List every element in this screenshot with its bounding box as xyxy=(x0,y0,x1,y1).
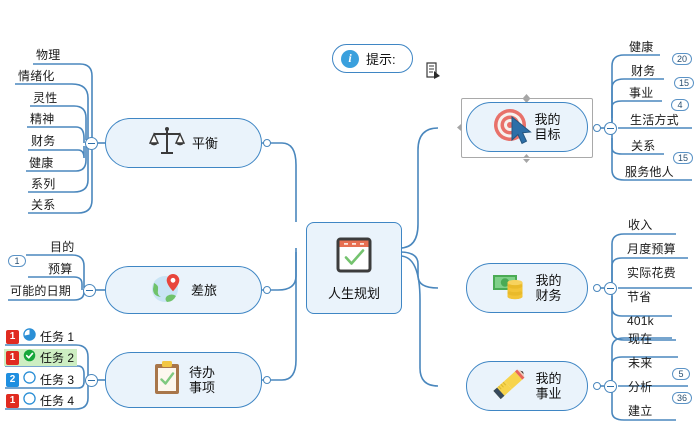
leaf-label-series[interactable]: 系列 xyxy=(31,177,55,191)
checklist-window-icon xyxy=(333,235,375,280)
hint-callout[interactable]: i 提示: xyxy=(332,44,413,73)
leaf-label-income[interactable]: 收入 xyxy=(628,218,652,232)
task-label: 任务 4 xyxy=(40,392,74,409)
info-icon: i xyxy=(341,50,359,68)
badge-goal-career: 4 xyxy=(671,99,689,111)
branch-dot-balance[interactable] xyxy=(263,139,271,147)
leaf-label-401k[interactable]: 401k xyxy=(627,314,654,328)
leaf-label-dates[interactable]: 可能的日期 xyxy=(10,284,71,298)
badge-goal-relations: 15 xyxy=(673,152,693,164)
branch-node-travel[interactable]: 差旅 xyxy=(105,266,262,314)
branch-dot-finance[interactable] xyxy=(593,284,601,292)
check-circle-icon[interactable] xyxy=(23,349,36,367)
leaf-label-goal-health[interactable]: 健康 xyxy=(629,40,653,54)
branch-label-balance: 平衡 xyxy=(192,136,218,151)
leaf-label-purpose[interactable]: 目的 xyxy=(50,240,74,254)
leaf-label-relations[interactable]: 关系 xyxy=(31,198,55,212)
circle-empty-icon[interactable] xyxy=(23,371,36,389)
collapse-toggle-goals[interactable] xyxy=(604,122,617,135)
leaf-label-goal-finance[interactable]: 财务 xyxy=(631,64,655,78)
money-coins-icon xyxy=(492,270,528,307)
clipboard-check-icon xyxy=(152,360,182,401)
leaf-label-now[interactable]: 现在 xyxy=(628,332,652,346)
branch-label-career: 我的 事业 xyxy=(535,371,561,401)
branch-label-goals: 我的 目标 xyxy=(534,112,560,142)
leaf-label-goal-relations[interactable]: 关系 xyxy=(631,139,655,153)
leaf-label-mental[interactable]: 精神 xyxy=(30,112,54,126)
pencil-ruler-icon xyxy=(492,367,528,406)
branch-dot-travel[interactable] xyxy=(263,286,271,294)
leaf-label-budget[interactable]: 预算 xyxy=(48,262,72,276)
list-item[interactable]: 1 任务 1 xyxy=(4,328,77,345)
center-node-label: 人生规划 xyxy=(328,283,380,302)
task-label: 任务 1 xyxy=(40,328,74,345)
circle-empty-icon[interactable] xyxy=(23,392,36,410)
scales-icon xyxy=(149,125,185,162)
globe-pin-icon xyxy=(150,272,184,309)
badge-goal-health: 20 xyxy=(672,53,692,65)
mindmap-canvas[interactable]: i 提示: 物理 情绪化 灵性 精神 财务 健康 系列 关系 目的 预算 可能的… xyxy=(0,0,696,446)
list-item[interactable]: 1 任务 2 xyxy=(4,349,77,366)
center-node[interactable]: 人生规划 xyxy=(306,222,402,314)
leaf-label-savings[interactable]: 节省 xyxy=(627,290,651,304)
leaf-label-financial[interactable]: 财务 xyxy=(31,134,55,148)
leaf-label-physical[interactable]: 物理 xyxy=(36,48,60,62)
branch-dot-goals[interactable] xyxy=(593,124,601,132)
branch-node-balance[interactable]: 平衡 xyxy=(105,118,262,168)
note-edit-cursor-icon xyxy=(425,62,441,85)
badge-analysis: 36 xyxy=(672,392,692,404)
priority-badge: 1 xyxy=(6,351,19,365)
leaf-label-goal-career[interactable]: 事业 xyxy=(629,86,653,100)
leaf-label-health[interactable]: 健康 xyxy=(29,156,53,170)
resize-handle-bottom[interactable] xyxy=(521,153,532,164)
branch-node-career[interactable]: 我的 事业 xyxy=(466,361,588,411)
collapse-toggle-travel[interactable] xyxy=(83,284,96,297)
branch-dot-todo[interactable] xyxy=(263,376,271,384)
list-item[interactable]: 1 任务 4 xyxy=(4,392,77,409)
pie-three-quarter-icon[interactable] xyxy=(23,328,36,346)
collapse-toggle-finance[interactable] xyxy=(604,282,617,295)
leaf-label-actual-spend[interactable]: 实际花费 xyxy=(627,266,676,280)
task-label: 任务 3 xyxy=(40,371,74,388)
branch-dot-career[interactable] xyxy=(593,382,601,390)
branch-label-finance: 我的 财务 xyxy=(535,273,561,303)
priority-badge: 1 xyxy=(6,394,19,408)
collapse-toggle-todo[interactable] xyxy=(85,374,98,387)
priority-badge: 2 xyxy=(6,373,19,387)
leaf-label-spiritual[interactable]: 灵性 xyxy=(33,91,57,105)
branch-node-todo[interactable]: 待办 事项 xyxy=(105,352,262,408)
leaf-label-emotional[interactable]: 情绪化 xyxy=(18,69,55,83)
leaf-label-monthly-budget[interactable]: 月度预算 xyxy=(627,242,676,256)
leaf-label-analysis[interactable]: 分析 xyxy=(628,380,652,394)
collapse-toggle-career[interactable] xyxy=(604,380,617,393)
hint-label: 提示: xyxy=(366,49,396,68)
leaf-label-goal-lifestyle[interactable]: 生活方式 xyxy=(630,113,679,127)
leaf-label-establish[interactable]: 建立 xyxy=(628,404,652,418)
badge-future: 5 xyxy=(672,368,690,380)
priority-badge: 1 xyxy=(6,330,19,344)
branch-label-todo: 待办 事项 xyxy=(189,365,215,395)
mouse-cursor-icon xyxy=(510,116,534,151)
badge-goal-finance: 15 xyxy=(674,77,694,89)
branch-node-finance[interactable]: 我的 财务 xyxy=(466,263,588,313)
list-item[interactable]: 2 任务 3 xyxy=(4,371,77,388)
branch-label-travel: 差旅 xyxy=(191,283,217,298)
task-label: 任务 2 xyxy=(40,349,74,366)
badge-purpose: 1 xyxy=(8,255,26,267)
collapse-toggle-balance[interactable] xyxy=(85,137,98,150)
leaf-label-goal-service[interactable]: 服务他人 xyxy=(625,165,674,179)
leaf-label-future[interactable]: 未来 xyxy=(628,356,652,370)
